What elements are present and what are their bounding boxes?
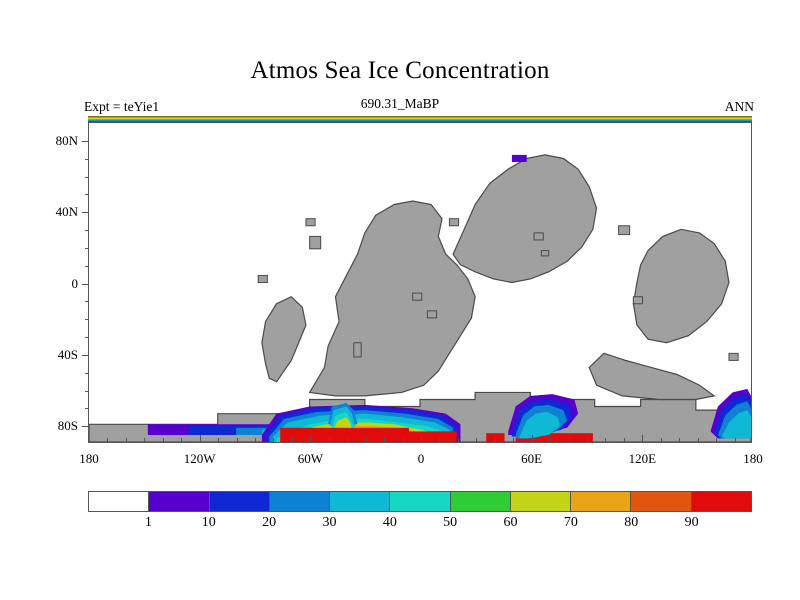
- x-tick-minor: [513, 438, 514, 442]
- x-tick-minor: [347, 438, 348, 442]
- x-axis-label: 0: [418, 451, 425, 467]
- map-plot-frame: 80N40N040S80S180120W60W060E120E180: [88, 122, 752, 443]
- x-tick-minor: [679, 438, 680, 442]
- map-polygon: [453, 155, 596, 283]
- y-axis-label: 80N: [56, 133, 78, 149]
- map-cell: [402, 431, 457, 442]
- colorbar-swatch[interactable]: [510, 492, 570, 511]
- y-tick-major: [82, 284, 89, 285]
- x-tick-minor: [181, 438, 182, 442]
- colorbar-tick-label: 50: [443, 515, 457, 531]
- x-tick-major: [642, 435, 643, 442]
- x-tick-minor: [605, 438, 606, 442]
- y-tick-minor: [85, 230, 89, 231]
- y-tick-minor: [85, 194, 89, 195]
- colorbar-swatch[interactable]: [148, 492, 208, 511]
- x-tick-minor: [384, 438, 385, 442]
- y-tick-minor: [85, 391, 89, 392]
- x-axis-label: 180: [79, 451, 99, 467]
- x-tick-minor: [107, 438, 108, 442]
- colorbar-tick-label: 1: [145, 515, 152, 531]
- x-tick-minor: [144, 438, 145, 442]
- y-tick-minor: [85, 408, 89, 409]
- x-tick-major: [200, 435, 201, 442]
- y-tick-major: [82, 355, 89, 356]
- x-tick-minor: [698, 438, 699, 442]
- x-tick-major: [421, 435, 422, 442]
- x-tick-minor: [716, 438, 717, 442]
- map-cell: [354, 343, 361, 357]
- map-cell: [729, 353, 738, 360]
- x-tick-major: [310, 435, 311, 442]
- x-tick-minor: [735, 438, 736, 442]
- colorbar-swatch[interactable]: [570, 492, 630, 511]
- colorbar-swatch[interactable]: [89, 492, 148, 511]
- x-tick-minor: [403, 438, 404, 442]
- x-tick-minor: [587, 438, 588, 442]
- colorbar-tick-label: 70: [564, 515, 578, 531]
- x-tick-minor: [569, 438, 570, 442]
- map-cell: [449, 219, 458, 226]
- x-tick-minor: [218, 438, 219, 442]
- y-axis-label: 0: [72, 276, 79, 292]
- x-axis-label: 120W: [184, 451, 216, 467]
- y-axis-label: 40N: [56, 204, 78, 220]
- colorbar-swatch[interactable]: [269, 492, 329, 511]
- colorbar-tick-label: 30: [322, 515, 336, 531]
- x-tick-minor: [476, 438, 477, 442]
- x-axis-label: 60W: [298, 451, 323, 467]
- y-tick-major: [82, 141, 89, 142]
- y-tick-minor: [85, 337, 89, 338]
- y-tick-minor: [85, 177, 89, 178]
- colorbar-tick-label: 40: [383, 515, 397, 531]
- x-tick-minor: [550, 438, 551, 442]
- colorbar-tick-label: 90: [685, 515, 699, 531]
- colorbar[interactable]: [88, 491, 752, 512]
- x-axis-label: 120E: [629, 451, 656, 467]
- colorbar-labels: 1102030405060708090: [88, 515, 752, 535]
- x-tick-minor: [624, 438, 625, 442]
- x-tick-minor: [495, 438, 496, 442]
- y-tick-minor: [85, 373, 89, 374]
- page-title: Atmos Sea Ice Concentration: [0, 57, 800, 85]
- map-cell: [534, 233, 543, 240]
- x-tick-minor: [329, 438, 330, 442]
- map-canvas: [89, 123, 751, 442]
- figure-canvas: Atmos Sea Ice Concentration Expt = teYie…: [0, 0, 800, 600]
- x-axis-label: 60E: [521, 451, 542, 467]
- colorbar-tick-label: 20: [262, 515, 276, 531]
- season-label: ANN: [725, 99, 754, 115]
- colorbar-swatch[interactable]: [329, 492, 389, 511]
- y-axis-label: 80S: [58, 418, 78, 434]
- x-tick-minor: [458, 438, 459, 442]
- x-tick-minor: [126, 438, 127, 442]
- map-cell: [512, 155, 527, 162]
- colorbar-tick-label: 80: [624, 515, 638, 531]
- map-cell: [619, 226, 630, 235]
- map-polygon: [589, 353, 714, 399]
- y-tick-major: [82, 212, 89, 213]
- x-axis-label: 180: [743, 451, 763, 467]
- map-polygon: [262, 297, 306, 382]
- map-polygon: [310, 201, 476, 396]
- colorbar-swatch[interactable]: [691, 492, 751, 511]
- map-cell: [306, 219, 315, 226]
- map-cell: [258, 275, 267, 282]
- x-tick-minor: [255, 438, 256, 442]
- map-cell: [413, 293, 422, 300]
- y-tick-minor: [85, 301, 89, 302]
- map-cell: [427, 311, 436, 318]
- x-tick-minor: [273, 438, 274, 442]
- colorbar-swatch[interactable]: [389, 492, 449, 511]
- map-cell: [310, 236, 321, 248]
- x-tick-minor: [439, 438, 440, 442]
- colorbar-swatch[interactable]: [630, 492, 690, 511]
- colorbar-tick-label: 10: [202, 515, 216, 531]
- y-tick-minor: [85, 319, 89, 320]
- map-polygon: [633, 229, 729, 342]
- x-tick-minor: [661, 438, 662, 442]
- map-cell: [633, 297, 642, 304]
- y-axis-label: 40S: [58, 347, 78, 363]
- x-tick-major: [532, 435, 533, 442]
- y-tick-minor: [85, 248, 89, 249]
- y-tick-minor: [85, 266, 89, 267]
- map-cell: [280, 428, 409, 442]
- x-tick-minor: [237, 438, 238, 442]
- x-tick-minor: [292, 438, 293, 442]
- x-tick-minor: [163, 438, 164, 442]
- y-tick-major: [82, 426, 89, 427]
- y-tick-minor: [85, 159, 89, 160]
- map-cell: [541, 251, 548, 256]
- colorbar-tick-label: 60: [504, 515, 518, 531]
- x-tick-minor: [366, 438, 367, 442]
- colorbar-swatch[interactable]: [209, 492, 269, 511]
- case-label: 690.31_MaBP: [0, 96, 800, 112]
- colorbar-swatch[interactable]: [450, 492, 510, 511]
